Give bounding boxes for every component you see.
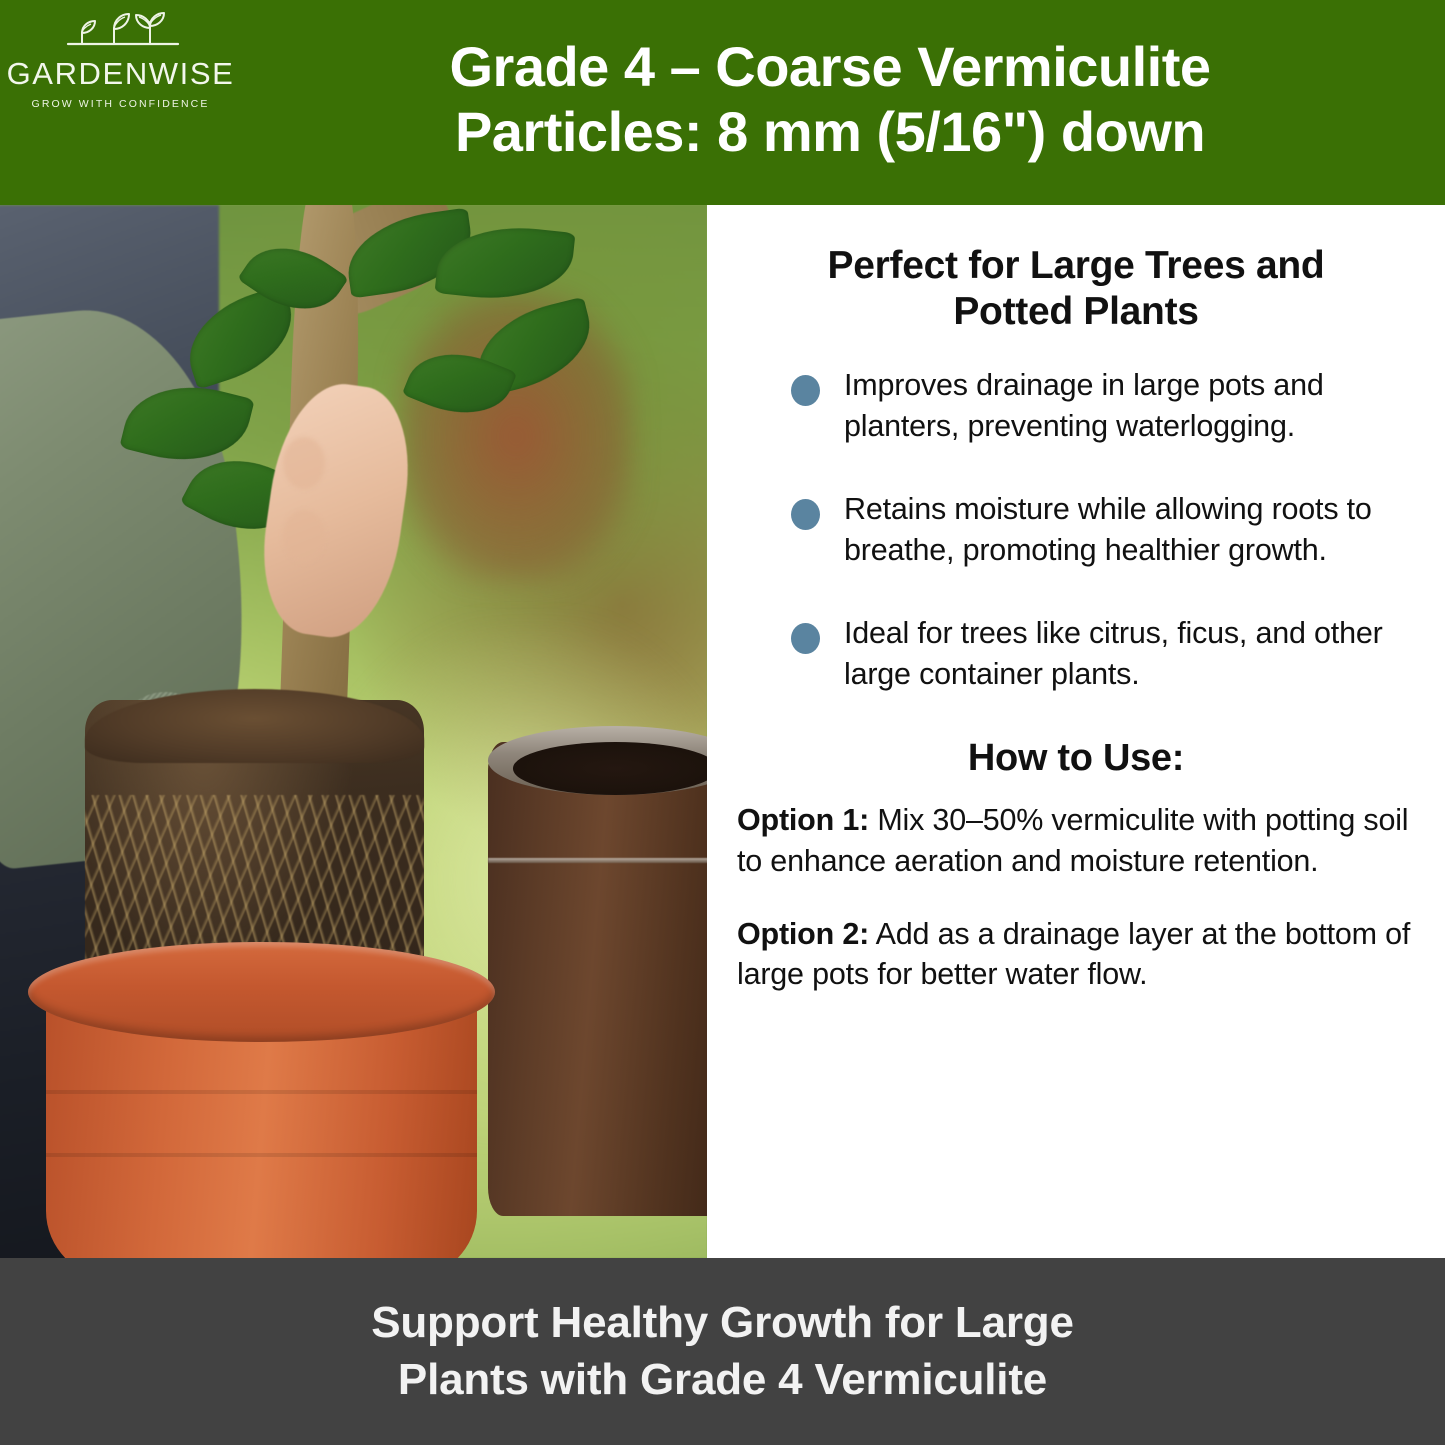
brand-name: GARDENWISE <box>7 58 235 89</box>
list-item-label: Improves drainage in large pots and plan… <box>844 365 1419 446</box>
list-item: Retains moisture while allowing roots to… <box>791 489 1419 570</box>
bullet-dot-icon <box>791 623 820 654</box>
content-heading: Perfect for Large Trees and Potted Plant… <box>729 243 1423 335</box>
list-item: Improves drainage in large pots and plan… <box>791 365 1419 446</box>
content-heading-line-2: Potted Plants <box>729 289 1423 335</box>
benefits-list: Improves drainage in large pots and plan… <box>729 365 1423 694</box>
list-item: Ideal for trees like citrus, ficus, and … <box>791 613 1419 694</box>
footer-banner: Support Healthy Growth for Large Plants … <box>0 1258 1445 1445</box>
how-to-use-heading: How to Use: <box>729 737 1423 780</box>
pot-ridge <box>46 1153 477 1157</box>
list-item-label: Retains moisture while allowing roots to… <box>844 489 1419 570</box>
option-1-paragraph: Option 1: Mix 30–50% vermiculite with po… <box>737 800 1423 881</box>
bullet-dot-icon <box>791 375 820 406</box>
option-2-paragraph: Option 2: Add as a drainage layer at the… <box>737 914 1423 995</box>
content-panel: Perfect for Large Trees and Potted Plant… <box>707 205 1445 1258</box>
option-1-label: Option 1: <box>737 803 869 837</box>
brand-logo: GARDENWISE GROW WITH CONFIDENCE <box>0 0 233 110</box>
brand-tagline: GROW WITH CONFIDENCE <box>32 98 210 110</box>
pot-ridge <box>46 1090 477 1094</box>
content-heading-line-1: Perfect for Large Trees and <box>729 243 1423 289</box>
option-2-label: Option 2: <box>737 917 869 951</box>
header-title-line-2: Particles: 8 mm (5/16") down <box>233 100 1427 165</box>
bullet-dot-icon <box>791 499 820 530</box>
footer-line-1: Support Healthy Growth for Large <box>371 1295 1074 1351</box>
barrel-planter <box>488 742 707 1216</box>
sprouting-plants-icon <box>62 8 180 55</box>
terracotta-pot-rim <box>28 942 495 1042</box>
product-photo <box>0 205 707 1258</box>
header-title-line-1: Grade 4 – Coarse Vermiculite <box>233 35 1427 100</box>
header-banner: GARDENWISE GROW WITH CONFIDENCE Grade 4 … <box>0 0 1445 205</box>
footer-line-2: Plants with Grade 4 Vermiculite <box>398 1352 1047 1408</box>
knuckle <box>283 437 325 490</box>
barrel-planter-band <box>488 858 707 863</box>
knuckle <box>283 510 325 563</box>
product-infographic: GARDENWISE GROW WITH CONFIDENCE Grade 4 … <box>0 0 1445 1445</box>
barrel-planter-opening <box>513 742 707 795</box>
header-title-group: Grade 4 – Coarse Vermiculite Particles: … <box>233 35 1445 171</box>
list-item-label: Ideal for trees like citrus, ficus, and … <box>844 613 1419 694</box>
